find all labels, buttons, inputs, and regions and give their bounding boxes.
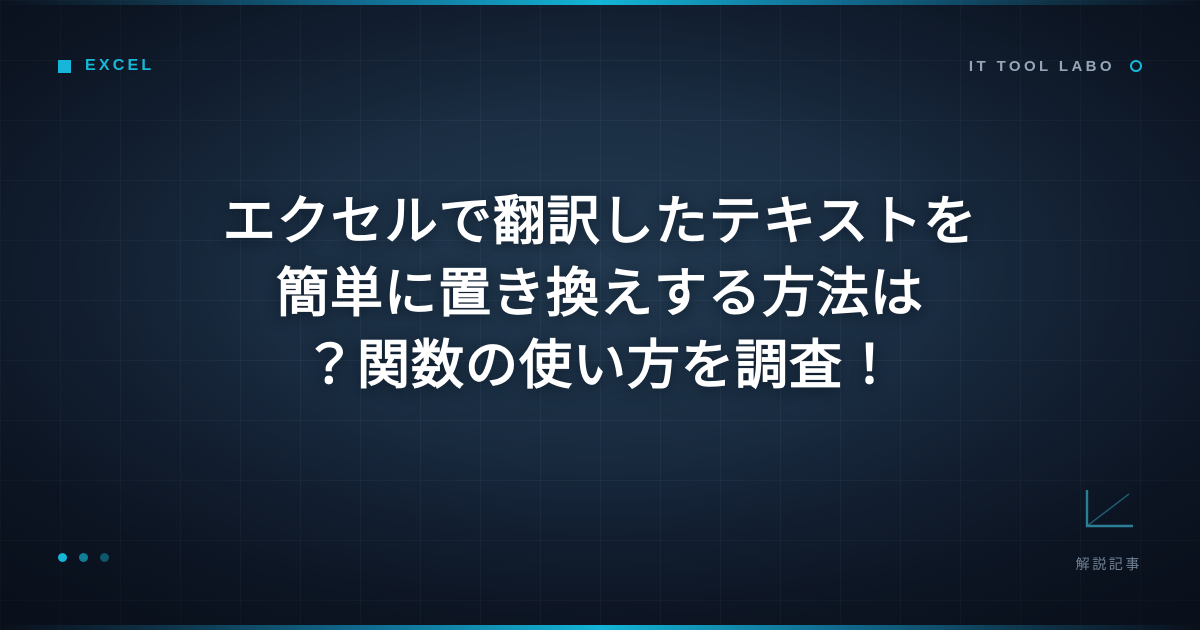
square-icon — [58, 60, 71, 73]
dot-3-icon — [100, 553, 109, 562]
title-line-1: エクセルで翻訳したテキストを — [90, 186, 1110, 258]
category-badge[interactable]: EXCEL — [58, 57, 154, 75]
ogp-card: EXCEL IT TOOL LABO エクセルで翻訳したテキストを 簡単に置き換… — [0, 0, 1200, 630]
page-title: エクセルで翻訳したテキストを 簡単に置き換えする方法は ？関数の使い方を調査！ — [0, 186, 1200, 402]
top-accent-bar — [0, 0, 1200, 5]
decorative-dots — [58, 553, 109, 562]
title-line-3: ？関数の使い方を調査！ — [90, 330, 1110, 402]
site-name-label: IT TOOL LABO — [969, 58, 1115, 75]
triangle-corner-icon — [1081, 486, 1137, 532]
category-badge-label: EXCEL — [85, 57, 154, 75]
article-type-label: 解説記事 — [1076, 554, 1142, 574]
dot-1-icon — [58, 553, 67, 562]
site-identity[interactable]: IT TOOL LABO — [969, 58, 1142, 75]
article-type-mark: 解説記事 — [1076, 486, 1142, 574]
title-line-2: 簡単に置き換えする方法は — [90, 258, 1110, 330]
title-heading: エクセルで翻訳したテキストを 簡単に置き換えする方法は ？関数の使い方を調査！ — [90, 186, 1110, 402]
circle-outline-icon — [1130, 60, 1142, 72]
header: EXCEL IT TOOL LABO — [58, 52, 1142, 80]
bottom-accent-bar — [0, 625, 1200, 630]
dot-2-icon — [79, 553, 88, 562]
